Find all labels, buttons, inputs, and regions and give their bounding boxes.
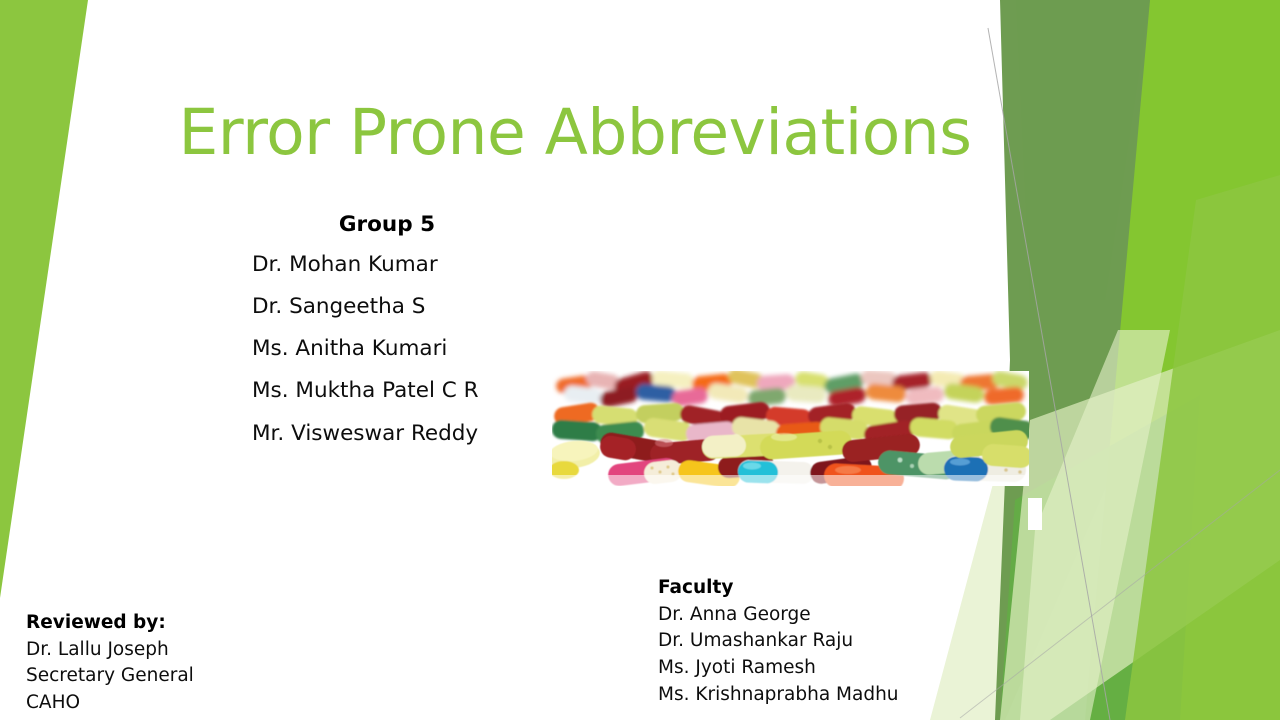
medium-green-shape bbox=[1000, 395, 1200, 720]
group-members-block: Group 5 Dr. Mohan Kumar Dr. Sangeetha S … bbox=[252, 214, 552, 459]
group-member-row: Mr. Visweswar Reddy bbox=[252, 417, 552, 450]
group-member-row: Ms. Muktha Patel C R bbox=[252, 374, 552, 407]
reviewed-by-line: Secretary General bbox=[26, 663, 194, 690]
pale-green-shape-b bbox=[1000, 330, 1280, 720]
reviewed-by-line: Dr. Lallu Joseph bbox=[26, 637, 194, 664]
pill-capsule-olive-4 bbox=[981, 443, 1029, 468]
reviewed-by-heading: Reviewed by: bbox=[26, 610, 194, 637]
group-member-row: Ms. Anitha Kumari bbox=[252, 332, 552, 365]
faculty-block: Faculty Dr. Anna George Dr. Umashankar R… bbox=[658, 575, 899, 708]
reviewed-by-line: CAHO bbox=[26, 690, 194, 717]
pills-and-capsules-photo bbox=[552, 371, 1029, 486]
faculty-member-row: Dr. Anna George bbox=[658, 602, 899, 629]
faculty-heading: Faculty bbox=[658, 575, 899, 602]
lime-green-blade bbox=[1125, 175, 1280, 720]
faculty-member-row: Ms. Jyoti Ramesh bbox=[658, 655, 899, 682]
faculty-member-row: Ms. Krishnaprabha Madhu bbox=[658, 682, 899, 709]
slide-title: Error Prone Abbreviations bbox=[0, 100, 1150, 166]
group-member-row: Dr. Mohan Kumar bbox=[252, 248, 552, 281]
left-green-wedge bbox=[0, 0, 88, 598]
presentation-slide: Error Prone Abbreviations Group 5 Dr. Mo… bbox=[0, 0, 1280, 720]
pale-green-sliver bbox=[1020, 330, 1170, 720]
group-member-row: Dr. Sangeetha S bbox=[252, 290, 552, 323]
hairline-diagonal-secondary bbox=[960, 470, 1280, 718]
pills-illustration bbox=[552, 371, 1029, 486]
reviewed-by-block: Reviewed by: Dr. Lallu Joseph Secretary … bbox=[26, 610, 194, 717]
faculty-member-row: Dr. Umashankar Raju bbox=[658, 628, 899, 655]
group-heading: Group 5 bbox=[252, 214, 522, 236]
corner-notch-shape bbox=[1028, 498, 1042, 530]
